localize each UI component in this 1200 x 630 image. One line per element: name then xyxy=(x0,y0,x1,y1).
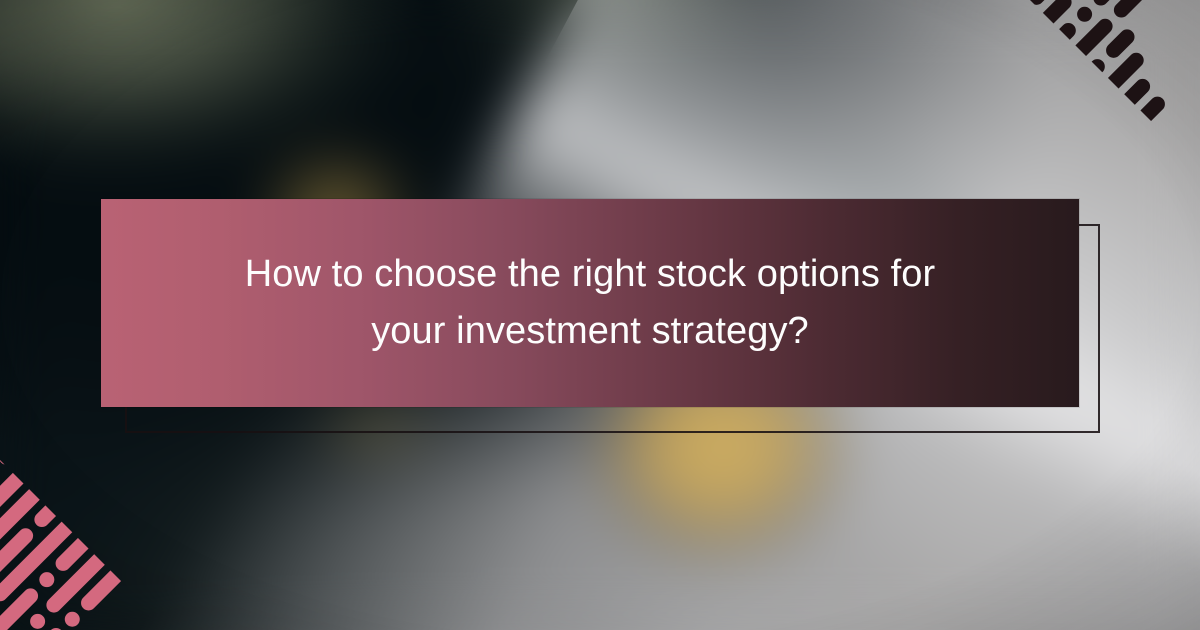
social-card-canvas: How to choose the right stock options fo… xyxy=(0,0,1200,630)
page-title: How to choose the right stock options fo… xyxy=(152,246,1028,360)
headline-banner: How to choose the right stock options fo… xyxy=(101,199,1079,407)
